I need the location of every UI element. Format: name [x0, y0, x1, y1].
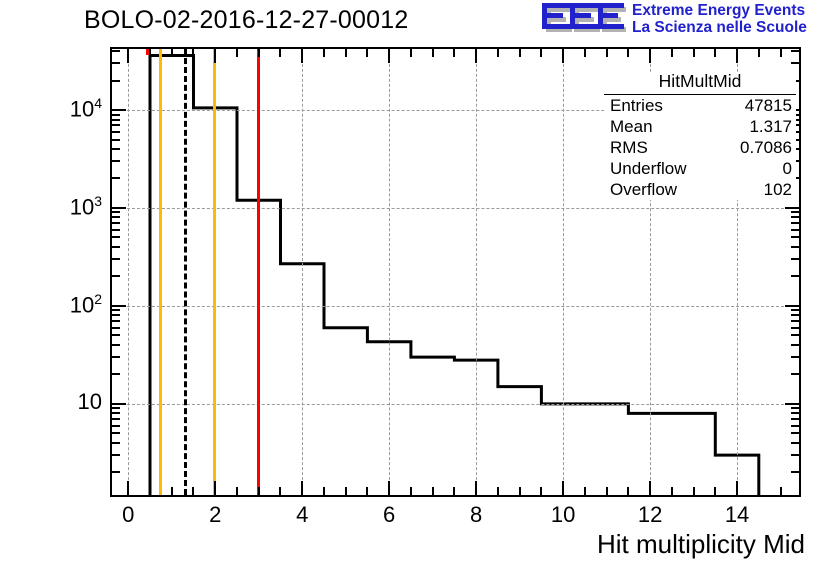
y-axis-tick-label: 103	[70, 193, 102, 220]
stats-key: RMS	[610, 139, 648, 156]
eee-logo-line2: La Scienza nelle Scuole	[632, 19, 836, 36]
stats-key: Underflow	[610, 160, 687, 177]
stats-value: 1.317	[749, 118, 792, 135]
stats-key: Entries	[610, 97, 663, 114]
gridline-vertical	[302, 49, 303, 495]
marker-line-threshold-high-red	[257, 49, 260, 495]
stats-rows: Entries47815Mean1.317RMS0.7086Underflow0…	[604, 95, 796, 200]
marker-line-mean-line	[184, 49, 187, 495]
x-axis-tick-label: 0	[88, 502, 168, 528]
eee-logo-text: Extreme Energy Events La Scienza nelle S…	[632, 2, 836, 36]
x-axis-tick-label: 2	[175, 502, 255, 528]
marker-line-threshold-low-orange	[159, 49, 162, 495]
eee-logo: Extreme Energy Events La Scienza nelle S…	[540, 2, 836, 40]
stats-row: RMS0.7086	[604, 137, 796, 158]
stats-value: 102	[764, 181, 792, 198]
stats-key: Mean	[610, 118, 653, 135]
x-axis-title: Hit multiplicity Mid	[597, 529, 805, 560]
stats-box: HitMultMid Entries47815Mean1.317RMS0.708…	[604, 72, 796, 200]
marker-line-threshold-high-orange	[213, 49, 216, 495]
y-axis-tick-label: 10	[78, 389, 102, 415]
gridline-vertical	[389, 49, 390, 495]
eee-logo-line1: Extreme Energy Events	[632, 2, 836, 19]
stats-value: 47815	[745, 97, 792, 114]
x-axis-tick-label: 14	[697, 502, 777, 528]
x-axis-tick-label: 6	[349, 502, 429, 528]
x-axis-tick-label: 8	[436, 502, 516, 528]
gridline-vertical	[476, 49, 477, 495]
stats-row: Mean1.317	[604, 116, 796, 137]
stats-key: Overflow	[610, 181, 677, 198]
marker-line-threshold-low-red	[146, 49, 149, 55]
stats-title: HitMultMid	[604, 72, 796, 95]
gridline-vertical	[563, 49, 564, 495]
root-canvas: BOLO-02-2016-12-27-00012	[0, 0, 836, 572]
stats-row: Underflow0	[604, 158, 796, 179]
y-axis-tick-label: 104	[70, 95, 102, 122]
y-axis-tick-label: 102	[70, 291, 102, 318]
page-title: BOLO-02-2016-12-27-00012	[84, 6, 408, 35]
gridline-vertical	[128, 49, 129, 495]
stats-value: 0.7086	[740, 139, 792, 156]
stats-row: Overflow102	[604, 179, 796, 200]
eee-logo-mark	[540, 3, 626, 37]
x-axis-tick-label: 10	[523, 502, 603, 528]
stats-row: Entries47815	[604, 95, 796, 116]
x-axis-tick-label: 12	[610, 502, 690, 528]
stats-value: 0	[783, 160, 792, 177]
x-axis-tick-label: 4	[262, 502, 342, 528]
